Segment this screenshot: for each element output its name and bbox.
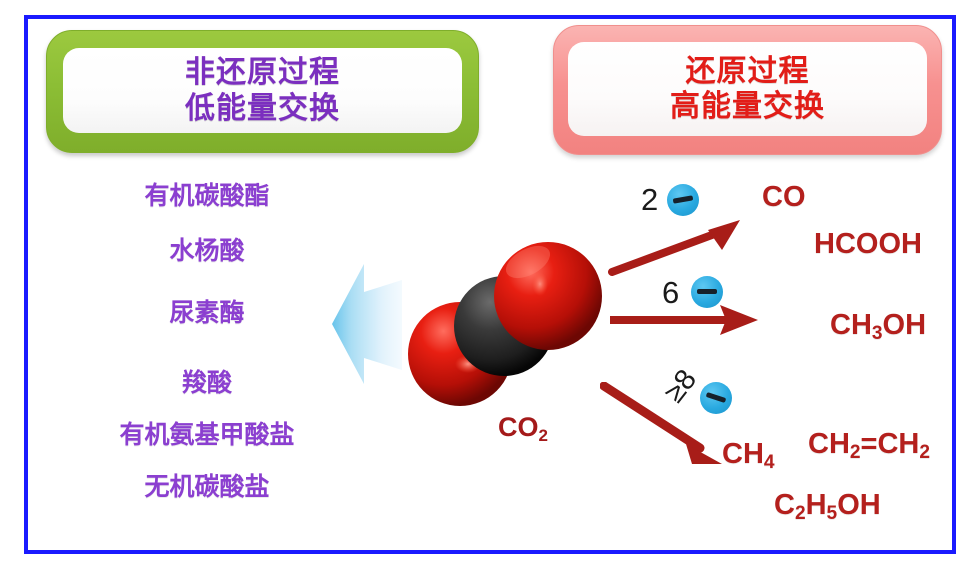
list-item: 无机碳酸盐 [144,467,269,503]
list-item: 水杨酸 [169,231,244,267]
co2-molecule-model [398,236,618,421]
reductive-title-line1: 还原过程 [686,54,810,89]
electron-count-2: 2 [641,182,658,218]
non-reductive-title-line1: 非还原过程 [185,55,340,90]
product-ch3oh: CH3OH [830,309,926,342]
electron-icon [667,184,699,216]
co2-label: CO2 [498,412,548,443]
figure-canvas: 非还原过程 低能量交换 还原过程 高能量交换 有机碳酸酯 水杨酸 尿素酶 羧酸 … [0,0,969,564]
list-item: 羧酸 [182,363,232,399]
product-co: CO [762,181,806,214]
reaction-arrow-2e [608,212,748,278]
electron-icon [691,276,723,308]
electron-icon [700,382,732,414]
product-ethylene: CH2=CH2 [808,428,930,461]
product-ethanol: C2H5OH [774,489,881,522]
product-hcooh: HCOOH [814,228,922,261]
reductive-title-line2: 高能量交换 [670,89,825,124]
non-reductive-title-line2: 低能量交换 [185,91,340,126]
blue-left-arrow-icon [330,258,404,390]
non-reductive-process-header: 非还原过程 低能量交换 [46,30,479,153]
non-reductive-product-list: 有机碳酸酯 水杨酸 尿素酶 羧酸 有机氨基甲酸盐 无机碳酸盐 [62,176,352,503]
reaction-arrow-6e [608,302,768,338]
electron-count-6: 6 [662,275,679,311]
list-item: 有机氨基甲酸盐 [119,415,294,451]
list-item: 尿素酶 [169,293,244,329]
product-ch4: CH4 [722,438,775,471]
list-item: 有机碳酸酯 [144,176,269,212]
reductive-process-header: 还原过程 高能量交换 [553,25,942,155]
